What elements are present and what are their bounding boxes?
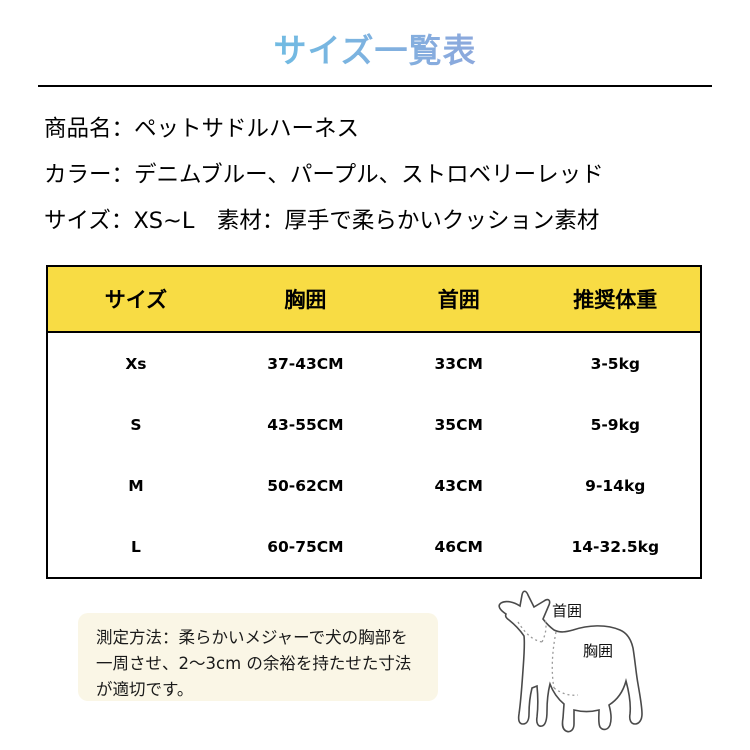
diagram-label-neck: 首囲 (552, 600, 582, 621)
table-row: M 50-62CM 43CM 9-14kg (47, 455, 701, 516)
table-row: S 43-55CM 35CM 5-9kg (47, 394, 701, 455)
table-body: Xs 37-43CM 33CM 3-5kg S 43-55CM 35CM 5-9… (47, 332, 701, 578)
cell-weight: 3-5kg (531, 332, 701, 394)
cell-weight: 5-9kg (531, 394, 701, 455)
cell-neck: 35CM (387, 394, 531, 455)
diagram-label-chest: 胸囲 (583, 640, 613, 661)
cell-size: L (47, 516, 224, 578)
cell-neck: 46CM (387, 516, 531, 578)
cell-chest: 60-75CM (224, 516, 387, 578)
product-color-line: カラー：デニムブルー、パープル、ストロベリーレッド (44, 152, 744, 198)
measuring-note-text: 測定方法：柔らかいメジャーで犬の胸部を一周させ、2〜3cm の余裕を持たせた寸法… (96, 625, 422, 703)
cell-neck: 43CM (387, 455, 531, 516)
table-row: Xs 37-43CM 33CM 3-5kg (47, 332, 701, 394)
cell-size: S (47, 394, 224, 455)
header-divider (38, 85, 712, 87)
product-info: 商品名：ペットサドルハーネス カラー：デニムブルー、パープル、ストロベリーレッド… (44, 106, 744, 244)
size-chart-table: サイズ 胸囲 首囲 推奨体重 Xs 37-43CM 33CM 3-5kg S 4… (46, 265, 702, 579)
product-size-material-line: サイズ：XS~L 素材：厚手で柔らかいクッション素材 (44, 198, 744, 244)
cell-weight: 9-14kg (531, 455, 701, 516)
cell-size: M (47, 455, 224, 516)
cell-chest: 37-43CM (224, 332, 387, 394)
column-header-weight: 推奨体重 (531, 266, 701, 332)
table-header: サイズ 胸囲 首囲 推奨体重 (47, 266, 701, 332)
dog-outline-icon (470, 578, 730, 750)
table-row: L 60-75CM 46CM 14-32.5kg (47, 516, 701, 578)
table-header-row: サイズ 胸囲 首囲 推奨体重 (47, 266, 701, 332)
column-header-chest: 胸囲 (224, 266, 387, 332)
column-header-neck: 首囲 (387, 266, 531, 332)
measuring-note-box: 測定方法：柔らかいメジャーで犬の胸部を一周させ、2〜3cm の余裕を持たせた寸法… (78, 613, 438, 701)
page-title: サイズ一覧表 (0, 24, 750, 72)
cell-neck: 33CM (387, 332, 531, 394)
cell-size: Xs (47, 332, 224, 394)
column-header-size: サイズ (47, 266, 224, 332)
product-name-line: 商品名：ペットサドルハーネス (44, 106, 744, 152)
cell-chest: 43-55CM (224, 394, 387, 455)
cell-weight: 14-32.5kg (531, 516, 701, 578)
dog-measurement-diagram: 首囲 胸囲 (470, 578, 730, 750)
cell-chest: 50-62CM (224, 455, 387, 516)
